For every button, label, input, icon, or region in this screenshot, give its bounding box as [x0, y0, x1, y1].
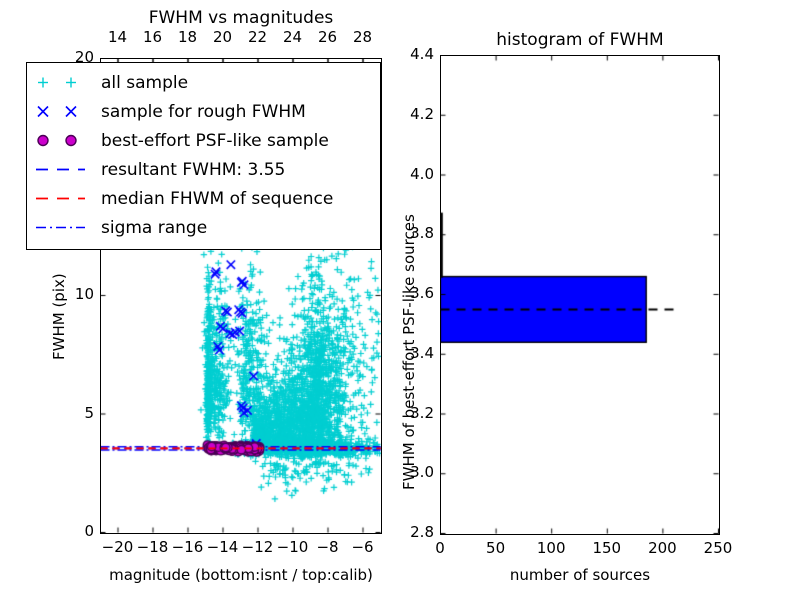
- scatter-y-tick-5: 5: [54, 404, 94, 422]
- legend-dashed-icon: [27, 184, 101, 213]
- histogram-x-tick-100: 100: [521, 539, 581, 557]
- plot-legend: all samplesample for rough FWHMbest-effo…: [26, 62, 381, 250]
- legend-entry-0[interactable]: all sample: [27, 68, 380, 97]
- legend-entry-label: resultant FWHM: 3.55: [101, 160, 285, 180]
- legend-entry-5[interactable]: sigma range: [27, 213, 380, 242]
- legend-plus-icon: [27, 68, 101, 97]
- histogram-x-tick-0: 0: [410, 539, 470, 557]
- scatter-y-axis-label: FWHM (pix): [50, 273, 68, 360]
- histogram-y-tick-4.4: 4.4: [394, 45, 434, 63]
- legend-dashed-icon: [27, 155, 101, 184]
- histogram-data-layer: [441, 56, 719, 534]
- legend-entry-label: sample for rough FWHM: [101, 102, 306, 122]
- legend-entry-label: best-effort PSF-like sample: [101, 131, 329, 151]
- histogram-title: histogram of FWHM: [440, 30, 720, 50]
- legend-dashdot-icon: [27, 213, 101, 242]
- legend-entry-2[interactable]: best-effort PSF-like sample: [27, 126, 380, 155]
- scatter-top-tick-28: 28: [333, 28, 393, 46]
- histogram-x-tick-200: 200: [632, 539, 692, 557]
- figure-canvas: FWHM vs magnitudes 1416182022242628 0510…: [0, 0, 800, 600]
- legend-entry-4[interactable]: median FHWM of sequence: [27, 184, 380, 213]
- legend-cross-icon: [27, 97, 101, 126]
- histogram-x-tick-250: 250: [688, 539, 748, 557]
- histogram-x-tick-150: 150: [577, 539, 637, 557]
- histogram-y-tick-4.0: 4.0: [394, 165, 434, 183]
- scatter-title: FWHM vs magnitudes: [100, 8, 382, 28]
- scatter-x-tick-7: −6: [333, 538, 393, 556]
- legend-entry-label: median FHWM of sequence: [101, 189, 333, 209]
- histogram-y-axis-label: FWHM of best-effort PSF-like sources: [400, 214, 418, 490]
- scatter-x-axis-label: magnitude (bottom:isnt / top:calib): [100, 566, 382, 584]
- legend-entry-3[interactable]: resultant FWHM: 3.55: [27, 155, 380, 184]
- histogram-x-tick-50: 50: [466, 539, 526, 557]
- legend-dot-icon: [27, 126, 101, 155]
- histogram-y-tick-4.2: 4.2: [394, 105, 434, 123]
- legend-entry-label: sigma range: [101, 218, 207, 238]
- histogram-axes: [440, 55, 720, 535]
- legend-entry-label: all sample: [101, 73, 188, 93]
- legend-entry-1[interactable]: sample for rough FWHM: [27, 97, 380, 126]
- histogram-x-axis-label: number of sources: [440, 566, 720, 584]
